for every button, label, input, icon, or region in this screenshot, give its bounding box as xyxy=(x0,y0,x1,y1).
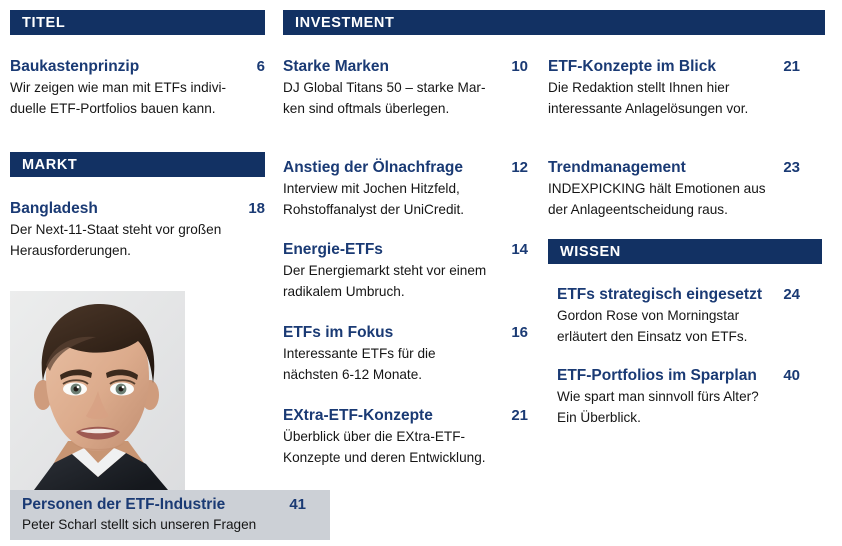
toc-entry-title: Anstieg der Ölnachfrage xyxy=(283,158,463,178)
toc-entry-description: Gordon Rose von Morningstar erläutert de… xyxy=(557,306,800,347)
toc-entry-title: Bangladesh xyxy=(10,199,98,219)
toc-desc-line: Interessante ETFs für die xyxy=(283,344,528,365)
feature-page: 41 xyxy=(289,494,306,515)
toc-desc-line: Interview mit Jochen Hitzfeld, xyxy=(283,179,528,200)
toc-entry-title: Trendmanagement xyxy=(548,158,686,178)
toc-entry-anstieg-oelnachfrage[interactable]: Anstieg der Ölnachfrage 12 Interview mit… xyxy=(283,158,528,220)
toc-desc-line: Gordon Rose von Morningstar xyxy=(557,306,800,327)
toc-entry-trendmanagement[interactable]: Trendmanagement 23 INDEXPICKING hält Emo… xyxy=(548,158,800,220)
toc-entry-header: EXtra-ETF-Konzepte 21 xyxy=(283,406,528,426)
toc-desc-line: erläutert den Einsatz von ETFs. xyxy=(557,327,800,348)
toc-entry-description: Interview mit Jochen Hitzfeld, Rohstoffa… xyxy=(283,179,528,220)
toc-desc-line: Der Energiemarkt steht vor einem xyxy=(283,261,528,282)
toc-entry-description: Wir zeigen wie man mit ETFs indivi- duel… xyxy=(10,78,265,119)
toc-desc-line: nächsten 6-12 Monate. xyxy=(283,365,528,386)
toc-desc-line: Wir zeigen wie man mit ETFs indivi- xyxy=(10,78,265,99)
toc-desc-line: Die Redaktion stellt Ihnen hier xyxy=(548,78,800,99)
toc-entry-header: Bangladesh 18 xyxy=(10,199,265,219)
toc-desc-line: Konzepte und deren Entwicklung. xyxy=(283,448,528,469)
toc-entry-description: Die Redaktion stellt Ihnen hier interess… xyxy=(548,78,800,119)
toc-entry-header: Baukastenprinzip 6 xyxy=(10,57,265,77)
section-banner-markt: MARKT xyxy=(10,152,265,177)
toc-entry-description: Der Energiemarkt steht vor einem radikal… xyxy=(283,261,528,302)
toc-entry-header: Starke Marken 10 xyxy=(283,57,528,77)
toc-desc-line: Rohstoffanalyst der UniCredit. xyxy=(283,200,528,221)
toc-entry-extra-etf-konzepte[interactable]: EXtra-ETF-Konzepte 21 Überblick über die… xyxy=(283,406,528,468)
toc-entry-description: Wie spart man sinnvoll fürs Alter? Ein Ü… xyxy=(557,387,800,428)
toc-entry-description: Interessante ETFs für die nächsten 6-12 … xyxy=(283,344,528,385)
toc-entry-title: EXtra-ETF-Konzepte xyxy=(283,406,433,426)
toc-entry-title: Energie-ETFs xyxy=(283,240,383,260)
toc-entry-header: Trendmanagement 23 xyxy=(548,158,800,178)
toc-entry-page: 16 xyxy=(511,323,528,343)
toc-entry-page: 6 xyxy=(257,57,265,77)
toc-entry-page: 14 xyxy=(511,240,528,260)
toc-desc-line: Der Next-11-Staat steht vor großen xyxy=(10,220,265,241)
toc-desc-line: radikalem Umbruch. xyxy=(283,282,528,303)
toc-desc-line: der Anlageentscheidung raus. xyxy=(548,200,800,221)
toc-entry-etfs-im-fokus[interactable]: ETFs im Fokus 16 Interessante ETFs für d… xyxy=(283,323,528,385)
toc-entry-etfs-strategisch-eingesetzt[interactable]: ETFs strategisch eingesetzt 24 Gordon Ro… xyxy=(557,285,800,347)
toc-entry-title: ETFs strategisch eingesetzt xyxy=(557,285,762,305)
toc-entry-title: ETF-Konzepte im Blick xyxy=(548,57,716,77)
toc-desc-line: Ein Überblick. xyxy=(557,408,800,429)
section-banner-titel-label: TITEL xyxy=(22,15,65,31)
toc-desc-line: interessante Anlagelösungen vor. xyxy=(548,99,800,120)
toc-entry-page: 12 xyxy=(511,158,528,178)
feature-title: Personen der ETF-Industrie xyxy=(22,494,225,515)
feature-description: Peter Scharl stellt sich unseren Fragen xyxy=(22,515,256,535)
toc-entry-page: 21 xyxy=(511,406,528,426)
toc-desc-line: Herausforderungen. xyxy=(10,241,265,262)
toc-entry-title: Baukastenprinzip xyxy=(10,57,139,77)
toc-entry-title: ETF-Portfolios im Sparplan xyxy=(557,366,757,386)
toc-entry-description: Überblick über die EXtra-ETF- Konzepte u… xyxy=(283,427,528,468)
toc-entry-header: Energie-ETFs 14 xyxy=(283,240,528,260)
toc-entry-header: Anstieg der Ölnachfrage 12 xyxy=(283,158,528,178)
toc-entry-title: ETFs im Fokus xyxy=(283,323,393,343)
portrait-photo xyxy=(10,291,185,490)
toc-desc-line: DJ Global Titans 50 – starke Mar- xyxy=(283,78,528,99)
toc-entry-description: DJ Global Titans 50 – starke Mar- ken si… xyxy=(283,78,528,119)
section-banner-investment-label: INVESTMENT xyxy=(295,15,394,31)
section-banner-titel: TITEL xyxy=(10,10,265,35)
section-banner-wissen: WISSEN xyxy=(548,239,822,264)
toc-desc-line: Überblick über die EXtra-ETF- xyxy=(283,427,528,448)
toc-entry-title: Starke Marken xyxy=(283,57,389,77)
section-banner-wissen-label: WISSEN xyxy=(560,244,621,260)
toc-entry-etf-portfolios-im-sparplan[interactable]: ETF-Portfolios im Sparplan 40 Wie spart … xyxy=(557,366,800,428)
toc-entry-baukastenprinzip[interactable]: Baukastenprinzip 6 Wir zeigen wie man mi… xyxy=(10,57,265,119)
toc-desc-line: Wie spart man sinnvoll fürs Alter? xyxy=(557,387,800,408)
toc-entry-description: INDEXPICKING hält Emotionen aus der Anla… xyxy=(548,179,800,220)
toc-entry-page: 24 xyxy=(783,285,800,305)
toc-entry-bangladesh[interactable]: Bangladesh 18 Der Next-11-Staat steht vo… xyxy=(10,199,265,261)
toc-entry-page: 23 xyxy=(783,158,800,178)
toc-entry-page: 10 xyxy=(511,57,528,77)
toc-entry-etf-konzepte-im-blick[interactable]: ETF-Konzepte im Blick 21 Die Redaktion s… xyxy=(548,57,800,119)
toc-entry-page: 40 xyxy=(783,366,800,386)
toc-entry-header: ETFs strategisch eingesetzt 24 xyxy=(557,285,800,305)
toc-entry-energie-etfs[interactable]: Energie-ETFs 14 Der Energiemarkt steht v… xyxy=(283,240,528,302)
toc-entry-description: Der Next-11-Staat steht vor großen Herau… xyxy=(10,220,265,261)
toc-entry-starke-marken[interactable]: Starke Marken 10 DJ Global Titans 50 – s… xyxy=(283,57,528,119)
toc-entry-header: ETFs im Fokus 16 xyxy=(283,323,528,343)
section-banner-markt-label: MARKT xyxy=(22,157,77,173)
feature-block-personen[interactable]: Personen der ETF-Industrie 41 Peter Scha… xyxy=(10,490,330,540)
toc-desc-line: duelle ETF-Portfolios bauen kann. xyxy=(10,99,265,120)
toc-entry-page: 21 xyxy=(783,57,800,77)
toc-desc-line: INDEXPICKING hält Emotionen aus xyxy=(548,179,800,200)
toc-entry-page: 18 xyxy=(248,199,265,219)
toc-entry-header: ETF-Portfolios im Sparplan 40 xyxy=(557,366,800,386)
toc-desc-line: ken sind oftmals überlegen. xyxy=(283,99,528,120)
section-banner-investment: INVESTMENT xyxy=(283,10,825,35)
toc-entry-header: ETF-Konzepte im Blick 21 xyxy=(548,57,800,77)
